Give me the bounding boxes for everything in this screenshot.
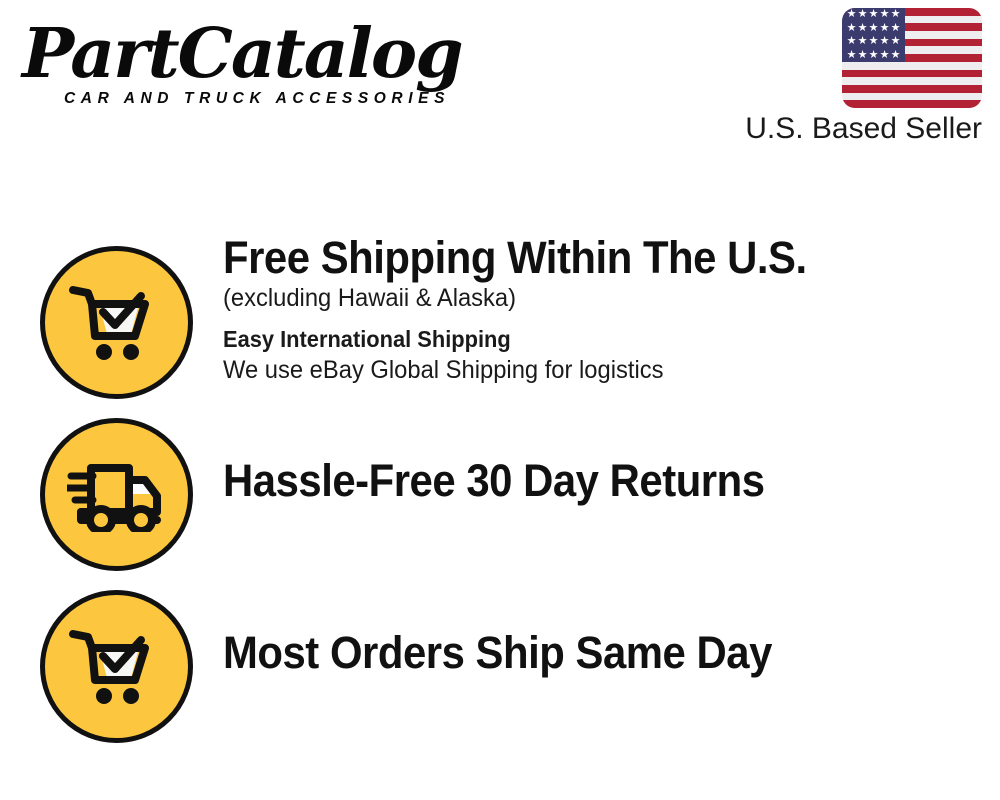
benefits-list: Free Shipping Within The U.S. (excluding… — [0, 210, 1000, 726]
shopping-cart-check-icon — [40, 246, 193, 399]
us-based-seller-badge: ★★★★★ ★★★★★ ★★★★★ ★★★★★ U.S. Based Selle… — [714, 8, 982, 146]
shopping-cart-check-icon — [40, 590, 193, 743]
flag-canton: ★★★★★ ★★★★★ ★★★★★ ★★★★★ — [842, 8, 905, 62]
delivery-truck-icon — [40, 418, 193, 571]
benefit-heading: Free Shipping Within The U.S. — [223, 234, 930, 282]
brand-logo[interactable]: PartCatalog CAR AND TRUCK ACCESSORIES — [22, 22, 492, 108]
benefit-row: Hassle-Free 30 Day Returns — [0, 382, 1000, 554]
benefit-row: Free Shipping Within The U.S. (excluding… — [0, 210, 1000, 382]
benefit-heading: Most Orders Ship Same Day — [223, 629, 930, 677]
benefit-text-block: Hassle-Free 30 Day Returns — [223, 457, 983, 505]
brand-wordmark: PartCatalog — [22, 22, 501, 87]
benefit-subnote: (excluding Hawaii & Alaska) — [223, 283, 945, 314]
benefit-heading: Hassle-Free 30 Day Returns — [223, 457, 930, 505]
seller-badge-label: U.S. Based Seller — [714, 112, 982, 146]
benefit-row: Most Orders Ship Same Day — [0, 554, 1000, 726]
us-flag-icon: ★★★★★ ★★★★★ ★★★★★ ★★★★★ — [842, 8, 982, 108]
header: PartCatalog CAR AND TRUCK ACCESSORIES ★★… — [0, 0, 1000, 170]
benefit-subheading: Easy International Shipping — [223, 325, 945, 354]
benefit-text-block: Most Orders Ship Same Day — [223, 629, 983, 677]
benefit-text-block: Free Shipping Within The U.S. (excluding… — [223, 234, 983, 386]
